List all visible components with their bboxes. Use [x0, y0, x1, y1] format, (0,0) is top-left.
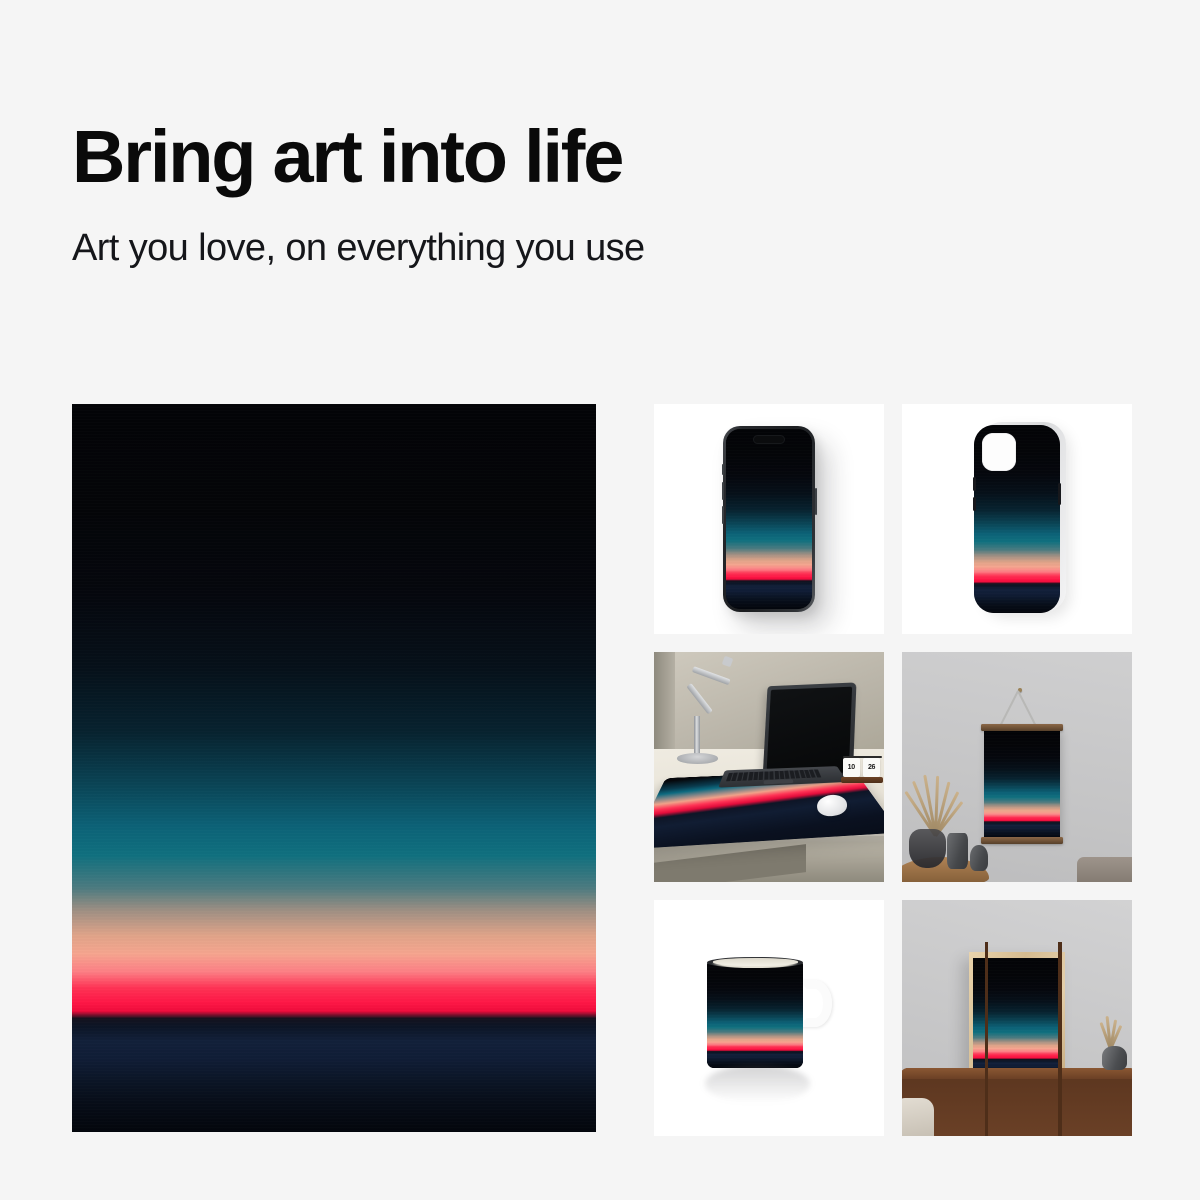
calendar-wood-base: [841, 777, 883, 784]
page-subtitle: Art you love, on everything you use: [72, 226, 1132, 272]
lamp-stem: [694, 716, 700, 755]
product-mockup-grid: 10 26: [654, 404, 1132, 1132]
tile-phone-case[interactable]: [902, 404, 1132, 634]
dried-pampas-icon: [1093, 1016, 1125, 1049]
grey-vase-icon: [1102, 1046, 1127, 1070]
mug-reflection: [705, 1065, 811, 1103]
framed-print-product: [969, 952, 1066, 1084]
hanging-canvas-product: [984, 724, 1060, 844]
tile-phone-mockup[interactable]: [654, 404, 884, 634]
case-volume-down-icon: [973, 497, 976, 511]
poster-rail-bottom: [981, 837, 1063, 844]
flip-calendar: 10 26: [843, 758, 882, 783]
laptop-trackpad-icon: [763, 779, 794, 784]
artwork-gradient: [726, 429, 812, 609]
tile-hanging-poster[interactable]: [902, 652, 1132, 882]
sideboard-top-surface: [902, 1068, 1132, 1079]
sideboard-door-divider: [1058, 942, 1061, 1136]
lamp-base: [677, 753, 718, 763]
artwork-gradient: [984, 729, 1060, 839]
phone-power-button-icon: [815, 488, 817, 515]
page-title: Bring art into life: [72, 118, 1132, 196]
case-power-button-icon: [1058, 483, 1061, 505]
artwork-gradient: [707, 961, 804, 1067]
phone-screen: [726, 429, 812, 609]
poster-rail-top: [981, 724, 1063, 731]
artwork-gradient: [72, 404, 596, 1132]
dried-pampas-icon: [904, 774, 964, 836]
mug-product: [707, 961, 804, 1067]
featured-artwork-image[interactable]: [72, 404, 596, 1132]
sideboard-door-divider: [985, 942, 988, 1136]
phone-dynamic-island-icon: [753, 435, 785, 444]
calendar-day-value: 26: [863, 758, 880, 777]
tile-framed-print[interactable]: [902, 900, 1132, 1136]
phone-mockup: [723, 426, 815, 612]
calendar-month-value: 10: [843, 758, 860, 777]
mug-body: [707, 961, 804, 1067]
sofa-corner: [1077, 857, 1132, 882]
camera-cutout-icon: [982, 433, 1016, 471]
hanging-poster-scene: [902, 652, 1132, 882]
case-body: [974, 425, 1060, 613]
armchair-corner: [902, 1098, 934, 1136]
hero-header: Bring art into life Art you love, on eve…: [72, 118, 1132, 271]
glass-vase-icon: [909, 829, 946, 868]
case-volume-up-icon: [973, 477, 976, 491]
tile-mug[interactable]: [654, 900, 884, 1136]
tall-grey-vase-icon: [947, 833, 968, 870]
phone-case-mockup: [974, 425, 1060, 613]
small-grey-vase-icon: [970, 845, 988, 870]
sideboard-rattan-doors: [914, 1080, 1130, 1136]
phone-volume-up-icon: [722, 482, 724, 500]
phone-volume-down-icon: [722, 506, 724, 524]
phone-body: [723, 426, 815, 612]
tile-desk-mat[interactable]: 10 26: [654, 652, 884, 882]
mug-scene: [654, 900, 884, 1136]
living-room-scene: [902, 900, 1132, 1136]
poster-artwork: [984, 729, 1060, 839]
desk-scene: 10 26: [654, 652, 884, 882]
product-gallery: 10 26: [72, 404, 1132, 1132]
wooden-sideboard: [902, 1068, 1132, 1136]
phone-mute-switch-icon: [722, 464, 724, 475]
